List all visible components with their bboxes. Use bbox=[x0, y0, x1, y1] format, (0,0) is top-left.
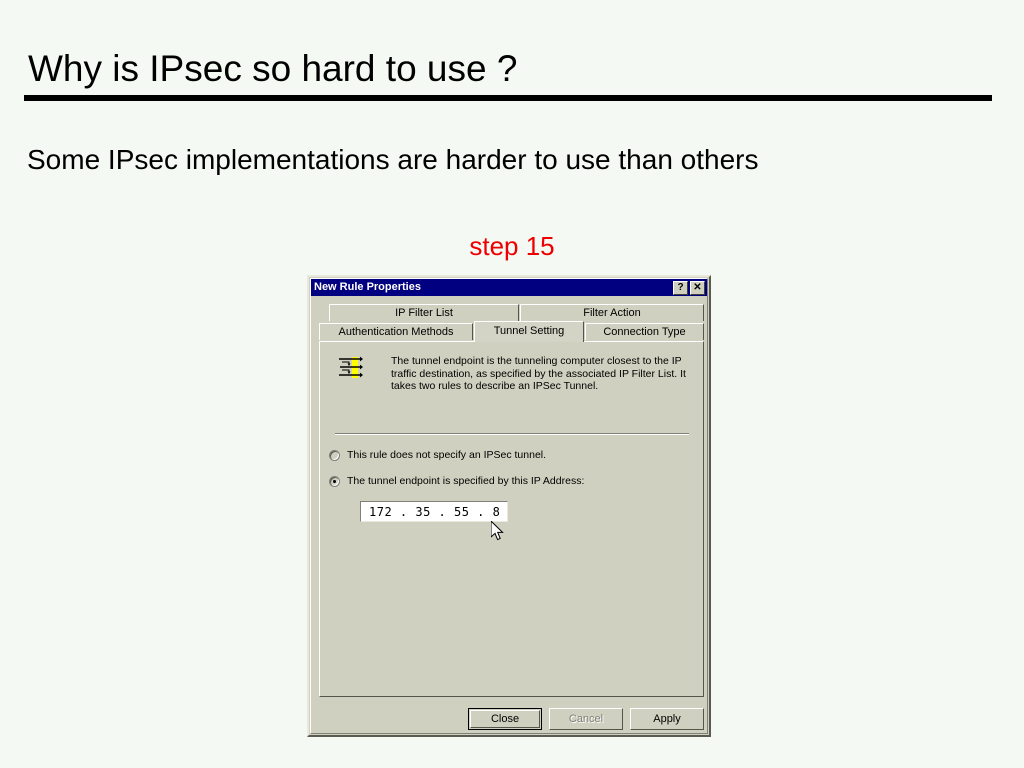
radio-no-tunnel-label: This rule does not specify an IPSec tunn… bbox=[347, 449, 546, 461]
step-annotation: step 15 bbox=[0, 231, 1024, 262]
slide: Why is IPsec so hard to use ? Some IPsec… bbox=[0, 0, 1024, 768]
tab-authentication-methods[interactable]: Authentication Methods bbox=[319, 323, 473, 340]
radio-tunnel-endpoint-icon[interactable] bbox=[329, 476, 340, 487]
new-rule-properties-dialog: New Rule Properties ? ✕ IP Filter List F… bbox=[307, 275, 711, 737]
dialog-title-text: New Rule Properties bbox=[314, 279, 671, 296]
tab-connection-type[interactable]: Connection Type bbox=[585, 323, 704, 340]
help-icon[interactable]: ? bbox=[673, 281, 688, 295]
tab-ip-filter-list[interactable]: IP Filter List bbox=[329, 304, 519, 321]
title-underline-rule bbox=[24, 95, 992, 101]
apply-button[interactable]: Apply bbox=[630, 708, 704, 730]
cancel-button: Cancel bbox=[549, 708, 623, 730]
radio-no-tunnel-icon[interactable] bbox=[329, 450, 340, 461]
tab-filter-action[interactable]: Filter Action bbox=[520, 304, 704, 321]
info-row: The tunnel endpoint is the tunneling com… bbox=[337, 355, 689, 393]
tunnel-description: The tunnel endpoint is the tunneling com… bbox=[391, 355, 687, 393]
dialog-titlebar[interactable]: New Rule Properties ? ✕ bbox=[311, 279, 707, 296]
tab-strip: IP Filter List Filter Action Authenticat… bbox=[319, 304, 704, 342]
close-button[interactable]: Close bbox=[468, 708, 542, 730]
tab-tunnel-setting[interactable]: Tunnel Setting bbox=[474, 321, 584, 342]
slide-subtitle: Some IPsec implementations are harder to… bbox=[27, 144, 759, 176]
ip-address-input[interactable]: 172 . 35 . 55 . 8 bbox=[360, 501, 508, 522]
page-title: Why is IPsec so hard to use ? bbox=[28, 48, 517, 90]
section-divider bbox=[335, 433, 689, 435]
tunnel-endpoint-icon bbox=[337, 356, 363, 380]
radio-row-tunnel-endpoint[interactable]: The tunnel endpoint is specified by this… bbox=[329, 475, 584, 487]
close-button-label: Close bbox=[470, 710, 540, 728]
radio-row-no-tunnel[interactable]: This rule does not specify an IPSec tunn… bbox=[329, 449, 546, 461]
close-icon[interactable]: ✕ bbox=[690, 281, 705, 295]
radio-tunnel-endpoint-label: The tunnel endpoint is specified by this… bbox=[347, 475, 584, 487]
